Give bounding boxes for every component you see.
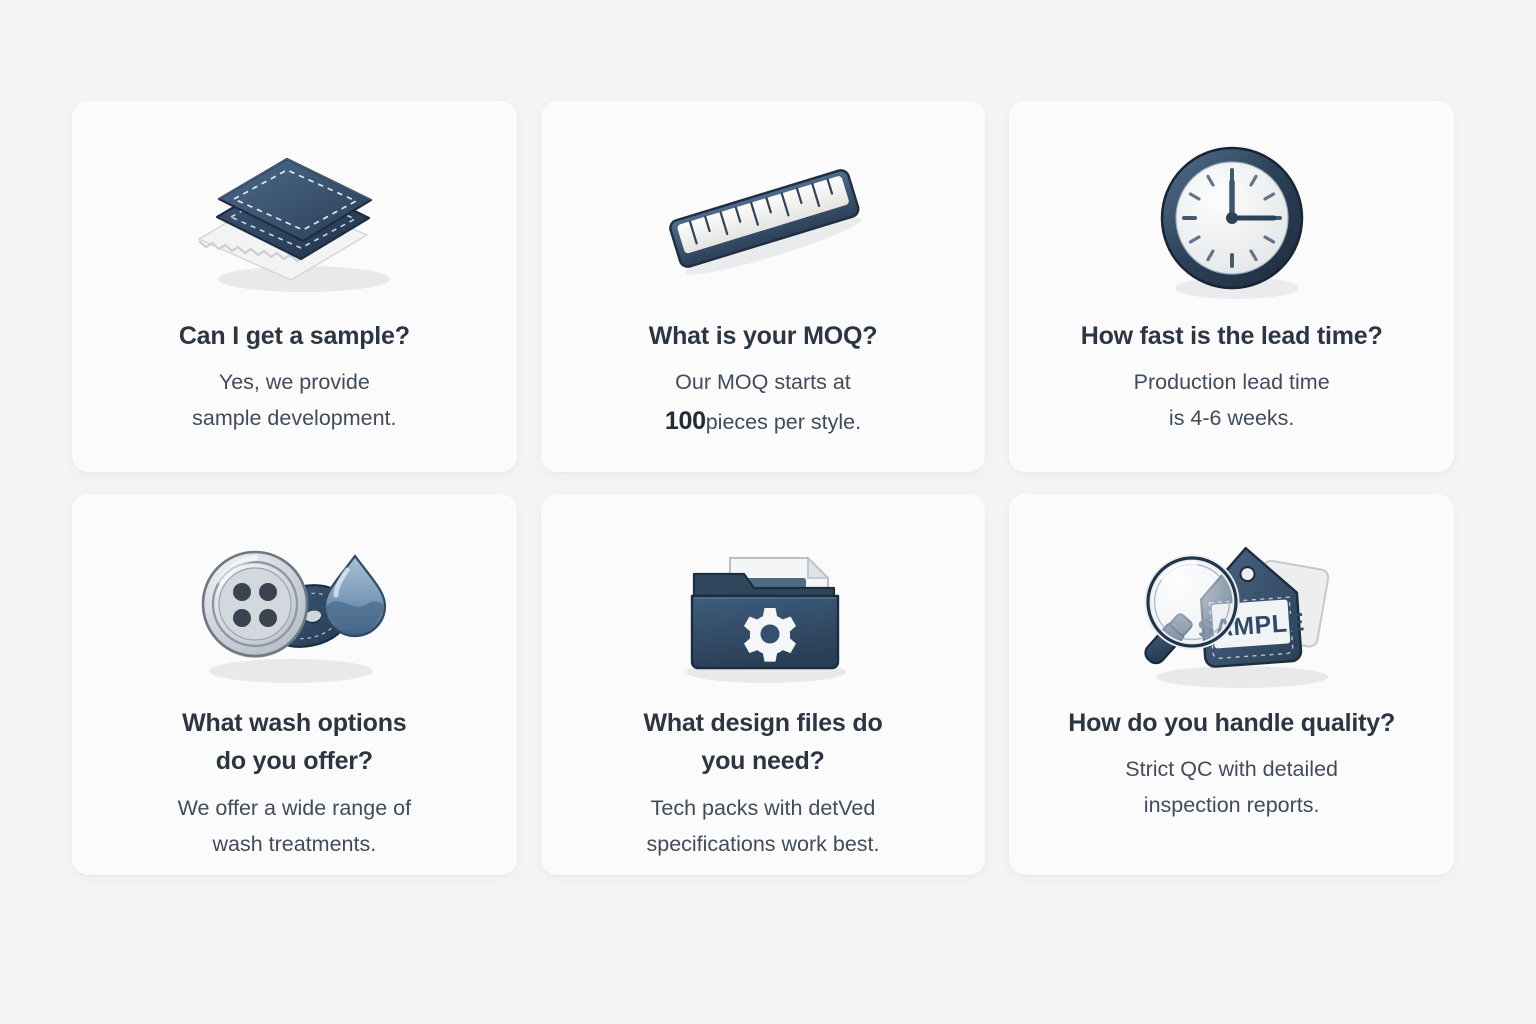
faq-answer: Yes, we provide sample development.	[192, 364, 396, 436]
faq-card-moq[interactable]: What is your MOQ? Our MOQ starts at 100p…	[541, 101, 986, 472]
folder-with-gear-icon	[571, 528, 956, 700]
card-text-block: Can I get a sample? Yes, we provide samp…	[102, 311, 487, 436]
faq-answer: We offer a wide range of wash treatments…	[178, 790, 411, 862]
faq-answer-line-2: pieces per style.	[706, 410, 861, 434]
faq-card-lead-time[interactable]: How fast is the lead time? Production le…	[1009, 101, 1454, 472]
faq-question: How fast is the lead time?	[1081, 317, 1383, 355]
button-and-water-drop-icon	[102, 528, 487, 700]
faq-answer-line-1: Production lead time	[1134, 370, 1330, 394]
faq-answer-line-2: inspection reports.	[1144, 793, 1320, 817]
fabric-swatch-stack-icon	[102, 135, 487, 311]
faq-card-wash-options[interactable]: What wash options do you offer? We offer…	[72, 494, 517, 875]
faq-answer: Tech packs with detVed specifications wo…	[646, 790, 879, 862]
card-text-block: What wash options do you offer? We offer…	[102, 700, 487, 862]
faq-card-sample[interactable]: Can I get a sample? Yes, we provide samp…	[72, 101, 517, 472]
faq-answer: Strict QC with detailed inspection repor…	[1125, 751, 1338, 823]
faq-answer: Production lead time is 4-6 weeks.	[1134, 364, 1330, 436]
faq-card-quality[interactable]: SAMPLE How do you handle quality? Stri	[1009, 494, 1454, 875]
faq-question-line-2: you need?	[701, 747, 824, 775]
faq-answer-line-2: wash treatments.	[212, 832, 376, 856]
faq-answer-line-1: Strict QC with detailed	[1125, 757, 1338, 781]
magnifier-with-sample-tag-icon: SAMPLE	[1039, 528, 1424, 700]
faq-question: What design files do you need?	[643, 704, 882, 781]
faq-answer-line-2: sample development.	[192, 406, 396, 430]
faq-answer-line-1: Yes, we provide	[219, 370, 370, 394]
faq-answer: Our MOQ starts at 100pieces per style.	[665, 364, 861, 442]
faq-answer-highlight: 100	[665, 407, 706, 435]
card-text-block: How do you handle quality? Strict QC wit…	[1039, 700, 1424, 823]
faq-card-design-files[interactable]: What design files do you need? Tech pack…	[541, 494, 986, 875]
faq-answer-line-1: Tech packs with detVed	[651, 796, 876, 820]
faq-question: What is your MOQ?	[649, 317, 878, 355]
faq-question-line-1: What wash options	[182, 709, 406, 737]
faq-question: How do you handle quality?	[1068, 704, 1395, 742]
faq-answer-line-1: We offer a wide range of	[178, 796, 411, 820]
faq-answer-line-1: Our MOQ starts at	[675, 370, 851, 394]
card-text-block: How fast is the lead time? Production le…	[1039, 311, 1424, 436]
faq-answer-line-2: specifications work best.	[646, 832, 879, 856]
faq-question-line-1: What design files do	[643, 709, 882, 737]
card-text-block: What is your MOQ? Our MOQ starts at 100p…	[571, 311, 956, 442]
wall-clock-icon	[1039, 135, 1424, 311]
ruler-icon	[571, 135, 956, 311]
faq-question: Can I get a sample?	[179, 317, 410, 355]
card-text-block: What design files do you need? Tech pack…	[571, 700, 956, 862]
faq-card-grid: Can I get a sample? Yes, we provide samp…	[72, 101, 1454, 875]
faq-question: What wash options do you offer?	[182, 704, 406, 781]
faq-question-line-2: do you offer?	[216, 747, 373, 775]
faq-answer-line-2: is 4-6 weeks.	[1169, 406, 1294, 430]
